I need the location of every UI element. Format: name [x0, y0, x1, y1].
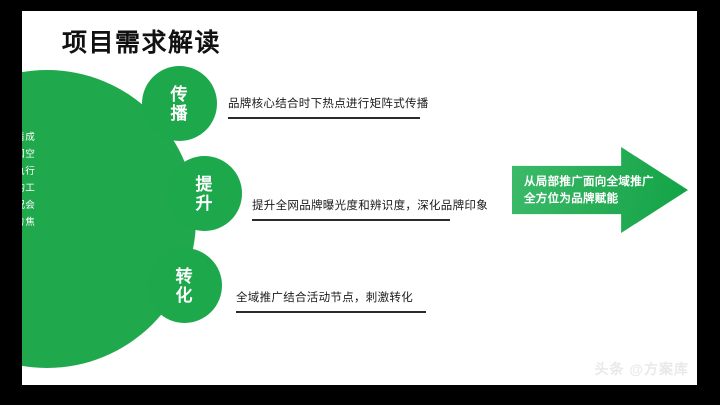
step-label-line2: 播 [171, 104, 189, 123]
step-label-line1: 传 [171, 85, 189, 104]
step-description-conversion: 全域推广结合活动节点，刺激转化 [236, 289, 426, 313]
conclusion-text: 从局部推广面向全域推广 全方位为品牌赋能 [524, 174, 634, 208]
conclusion-arrow-callout: 从局部推广面向全域推广 全方位为品牌赋能 [512, 147, 688, 233]
step-circle-uplift: 提 升 [167, 156, 242, 231]
step-description-uplift: 提升全网品牌曝光度和辨识度，深化品牌印象 [252, 197, 450, 221]
step-label-line2: 升 [196, 194, 214, 213]
step-label-line2: 化 [176, 286, 194, 305]
slide-frame: 项目需求解读 此次神舟十二号发射圆满成功，并且3名宇航员在中国空间站在轨工作3个… [0, 0, 720, 405]
conclusion-line-2: 全方位为品牌赋能 [524, 191, 634, 208]
intro-paragraph: 此次神舟十二号发射圆满成功，并且3名宇航员在中国空间站在轨工作3个月，在执行各个… [22, 129, 35, 248]
step-description-transmission: 品牌核心结合时下热点进行矩阵式传播 [228, 95, 420, 119]
watermark: 头条 @方案库 [594, 359, 689, 379]
step-label-line1: 提 [196, 175, 214, 194]
step-label-line1: 转 [176, 267, 194, 286]
step-circle-conversion: 转 化 [147, 248, 222, 323]
slide-canvas: 项目需求解读 此次神舟十二号发射圆满成功，并且3名宇航员在中国空间站在轨工作3个… [22, 11, 697, 385]
page-title: 项目需求解读 [62, 23, 221, 59]
step-circle-transmission: 传 播 [142, 66, 217, 141]
conclusion-line-1: 从局部推广面向全域推广 [524, 174, 634, 191]
